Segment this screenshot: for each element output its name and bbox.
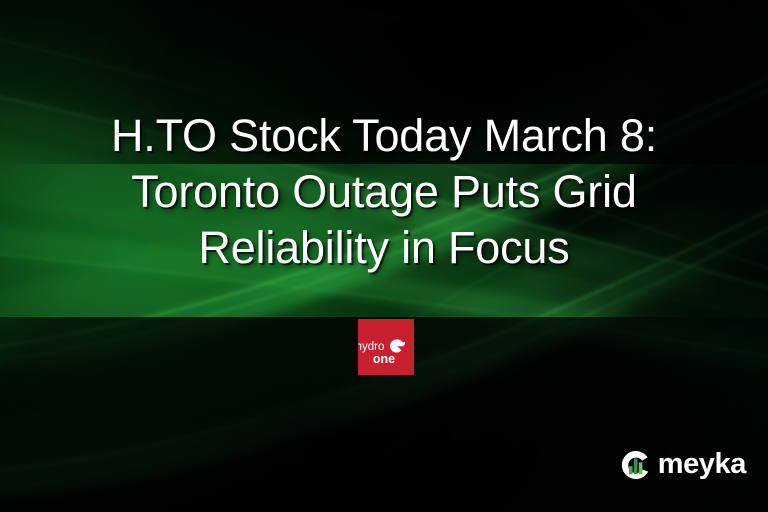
hydro-one-word-bottom: one — [373, 352, 395, 366]
meyka-bar-1 — [629, 466, 633, 474]
hydro-one-logo: hydro one — [358, 319, 414, 375]
meyka-wordmark: meyka — [658, 450, 746, 479]
meyka-circle-chart-icon — [617, 446, 655, 484]
headline-line-2: Toronto Outage Puts Grid — [0, 164, 768, 220]
headline: H.TO Stock Today March 8: Toronto Outage… — [0, 108, 768, 276]
hydro-one-swirl-icon — [390, 339, 405, 352]
hydro-one-logo-mark: hydro one — [358, 319, 414, 375]
meyka-watermark: meyka — [617, 446, 746, 484]
stock-news-banner: H.TO Stock Today March 8: Toronto Outage… — [0, 0, 768, 512]
meyka-bar-2 — [634, 458, 638, 474]
headline-line-3: Reliability in Focus — [0, 220, 768, 276]
headline-line-1: H.TO Stock Today March 8: — [0, 108, 768, 164]
meyka-bar-3 — [638, 462, 642, 474]
